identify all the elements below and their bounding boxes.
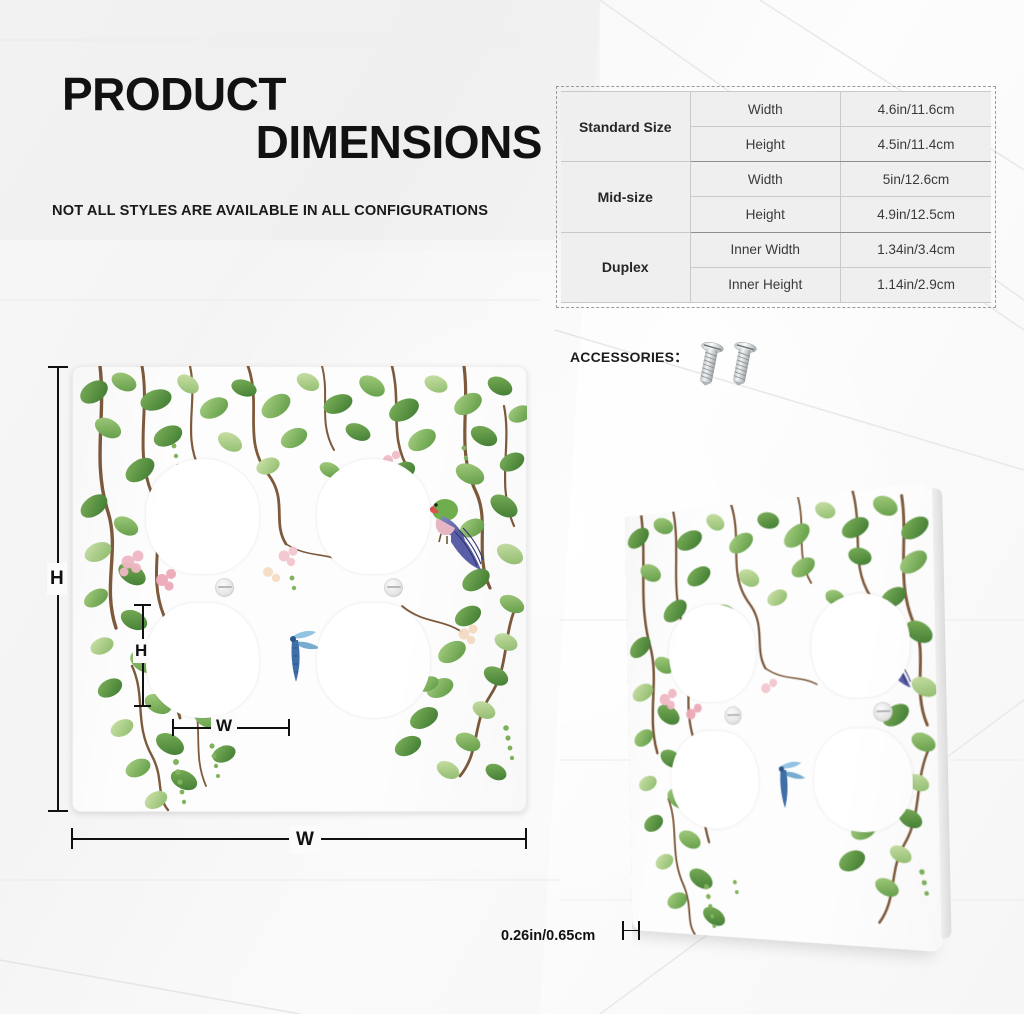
outer-width-cap-right <box>525 828 527 849</box>
inner-width-cap-left <box>172 719 174 736</box>
wall-plate-front-view <box>72 366 527 812</box>
screw-hole <box>724 706 741 725</box>
inner-height-cap-bottom <box>134 705 151 707</box>
wall-plate-angled-view <box>608 500 938 940</box>
table-cell-category: Duplex <box>561 232 690 302</box>
table-cell-dimension: Inner Height <box>690 267 841 302</box>
inner-height-cap-top <box>134 604 151 606</box>
outlet-hole <box>813 727 914 833</box>
table-row: Duplex Inner Width 1.34in/3.4cm <box>561 232 991 267</box>
outer-height-cap-bottom <box>48 810 68 812</box>
dragonfly-illustration <box>290 631 320 682</box>
plate-sheen <box>72 366 527 812</box>
outlet-hole <box>671 730 760 829</box>
title-line-1: PRODUCT <box>62 72 542 117</box>
outlet-hole <box>317 603 430 718</box>
table-row: Standard Size Width 4.6in/11.6cm <box>561 92 991 127</box>
table-cell-dimension: Width <box>690 162 841 197</box>
table-cell-value: 1.34in/3.4cm <box>841 232 992 267</box>
page-title: PRODUCT DIMENSIONS <box>62 72 542 165</box>
table-cell-dimension: Height <box>690 197 841 232</box>
screw-hole <box>873 702 893 722</box>
outlet-hole <box>810 590 911 699</box>
table-cell-category: Mid-size <box>561 162 690 232</box>
botanical-pattern <box>72 366 527 812</box>
outer-height-label: H <box>47 563 67 595</box>
screw-hole <box>215 578 234 597</box>
table-cell-value: 4.6in/11.6cm <box>841 92 992 127</box>
table-cell-dimension: Inner Width <box>690 232 841 267</box>
dimensions-table-body: Standard Size Width 4.6in/11.6cm Height … <box>561 92 991 303</box>
table-row: Mid-size Width 5in/12.6cm <box>561 162 991 197</box>
plate-sheen <box>625 481 943 952</box>
accessories-label: ACCESSORIES： <box>570 347 688 367</box>
bird-illustration <box>423 499 483 570</box>
outer-width-cap-left <box>71 828 73 849</box>
table-cell-dimension: Height <box>690 127 841 162</box>
table-cell-value: 5in/12.6cm <box>841 162 992 197</box>
table-cell-value: 4.9in/12.5cm <box>841 197 992 232</box>
outlet-hole <box>146 459 259 574</box>
inner-width-cap-right <box>288 719 290 736</box>
table-cell-value: 1.14in/2.9cm <box>841 267 992 302</box>
inner-height-label: H <box>133 639 149 663</box>
outlet-hole <box>317 459 430 574</box>
dimensions-table: Standard Size Width 4.6in/11.6cm Height … <box>556 86 996 308</box>
inner-width-label: W <box>211 714 237 738</box>
outer-height-cap-top <box>48 366 68 368</box>
botanical-pattern <box>625 481 943 952</box>
table-cell-category: Standard Size <box>561 92 690 162</box>
table-cell-value: 4.5in/11.4cm <box>841 127 992 162</box>
thickness-label: 0.26in/0.65cm <box>501 928 595 944</box>
outlet-hole <box>668 601 757 703</box>
title-line-2: DIMENSIONS <box>62 119 542 165</box>
screw-icon <box>692 338 762 393</box>
outlet-hole <box>146 603 259 718</box>
screw-hole <box>384 578 403 597</box>
table-cell-dimension: Width <box>690 92 841 127</box>
outer-width-label: W <box>289 826 321 854</box>
thickness-line <box>622 930 640 932</box>
page-subtitle: NOT ALL STYLES ARE AVAILABLE IN ALL CONF… <box>52 203 488 219</box>
